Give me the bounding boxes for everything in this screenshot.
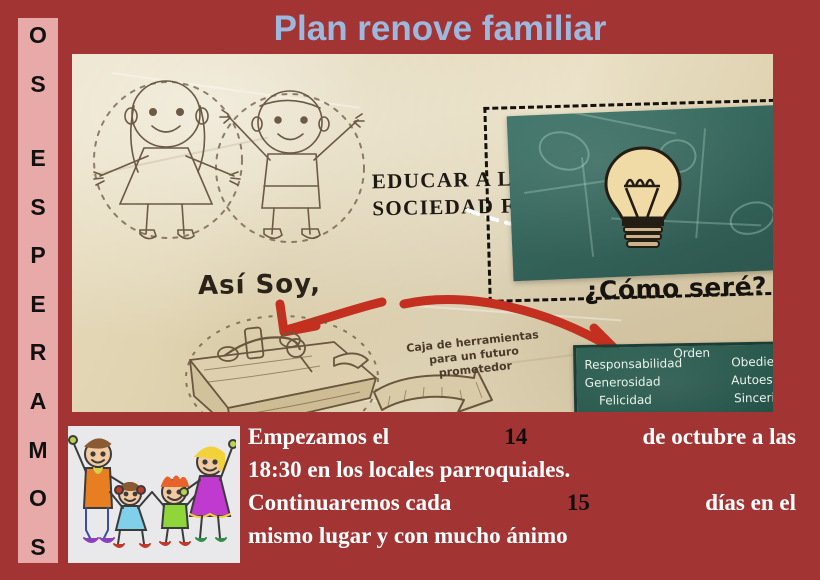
poster-root: O S E S P E R A M O S Plan renove famili… [0,0,820,580]
announcement-line-3-a: Continuaremos cada [248,486,451,519]
announcement-line-1-b: de octubre a las [642,420,796,453]
sidebar-letter: S [30,73,45,96]
toolbox-sketch [184,312,384,412]
sidebar-letter: P [30,244,45,267]
announcement-line-1: Empezamos el 14 de octubre a las [248,420,796,453]
announcement-date-day: 14 [504,420,527,453]
value-item: Felicidad [585,390,683,410]
sidebar-letter: O [29,487,47,510]
sidebar-letter: A [30,390,47,413]
vertical-sidebar: O S E S P E R A M O S [18,18,58,563]
sidebar-letter: S [30,196,45,219]
page-title: Plan renove familiar [140,8,740,50]
sidebar-letter: E [30,293,45,316]
values-chalkboard: Responsabilidad Generosidad Felicidad Ob… [573,341,773,412]
value-item: Autoestima [731,370,773,389]
sidebar-letter: R [30,341,47,364]
kid-boy-sketch [212,86,372,244]
announcement-line-2: 18:30 en los locales parroquiales. [248,453,808,486]
value-item: Responsabilidad [584,354,682,374]
announcement-interval-days: 15 [567,486,590,519]
announcement-line-1-a: Empezamos el [248,420,389,453]
value-item: Sinceridad [731,388,773,407]
values-left-column: Responsabilidad Generosidad Felicidad [584,354,683,410]
sidebar-letter: E [30,147,45,170]
sidebar-letter: M [28,439,47,462]
family-clipart [66,424,242,565]
values-right-column: Obediencia Autoestima Sinceridad [731,352,773,407]
value-item: Obediencia [731,352,773,371]
announcement-line-4: mismo lugar y con mucho ánimo [248,519,808,552]
value-item: Generosidad [585,372,683,392]
sidebar-letter: O [29,24,47,47]
announcement-line-3-b: días en el [705,486,796,519]
announcement-line-3: Continuaremos cada 15 días en el [248,486,796,519]
sidebar-letter: S [30,536,45,559]
announcement-text: Empezamos el 14 de octubre a las 18:30 e… [248,420,808,552]
collage-panel: EDUCAR A LA SOCIEDAD FUTURA [72,54,773,412]
